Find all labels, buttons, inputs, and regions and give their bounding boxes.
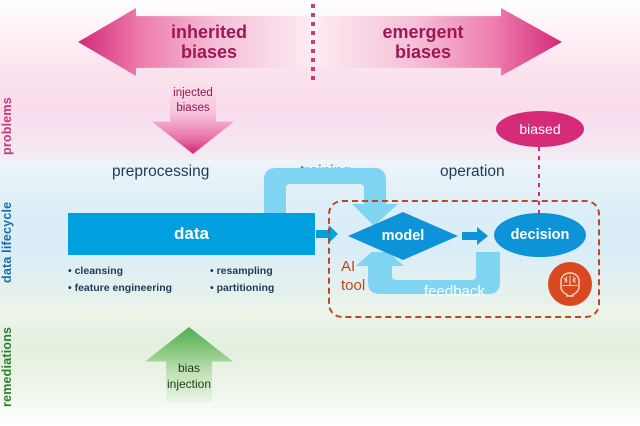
band-label-problems: problems bbox=[0, 78, 40, 174]
emergent-biases-line2: biases bbox=[382, 42, 463, 62]
bias-injection-line1: bias bbox=[167, 360, 211, 376]
emergent-biases-line1: emergent bbox=[382, 22, 463, 42]
inherited-biases-line1: inherited bbox=[171, 22, 247, 42]
band-label-remediations: remediations bbox=[0, 316, 40, 418]
brain-head-icon bbox=[548, 262, 592, 306]
data-bullets-right: resampling partitioning bbox=[210, 263, 274, 297]
data-box: data bbox=[68, 213, 315, 255]
inherited-biases-label: inherited biases bbox=[171, 22, 247, 62]
list-item: cleansing bbox=[68, 263, 172, 280]
list-item: feature engineering bbox=[68, 280, 172, 297]
biased-node: biased bbox=[496, 111, 584, 147]
injected-biases-line1: injected bbox=[173, 86, 213, 101]
diagram-canvas: problems data lifecycle remediations inh… bbox=[0, 0, 640, 426]
band-label-data-lifecycle: data lifecycle bbox=[0, 186, 40, 298]
stage-label-operation: operation bbox=[440, 163, 505, 181]
biased-dotted-connector bbox=[538, 147, 540, 217]
bias-injection-label: bias injection bbox=[167, 360, 211, 402]
decision-node: decision bbox=[494, 213, 586, 257]
band-remediations-background bbox=[0, 305, 640, 426]
list-item: partitioning bbox=[210, 280, 274, 297]
biases-divider-dotted-line bbox=[311, 4, 315, 84]
injected-biases-label: injected biases bbox=[173, 82, 213, 116]
list-item: resampling bbox=[210, 263, 274, 280]
stage-label-preprocessing: preprocessing bbox=[112, 163, 209, 181]
bias-injection-line2: injection bbox=[167, 376, 211, 392]
emergent-biases-label: emergent biases bbox=[382, 22, 463, 62]
feedback-arrow bbox=[340, 252, 540, 310]
injected-biases-line2: biases bbox=[173, 101, 213, 116]
inherited-biases-line2: biases bbox=[171, 42, 247, 62]
feedback-label: feedback bbox=[424, 283, 485, 300]
data-bullets-left: cleansing feature engineering bbox=[68, 263, 172, 297]
